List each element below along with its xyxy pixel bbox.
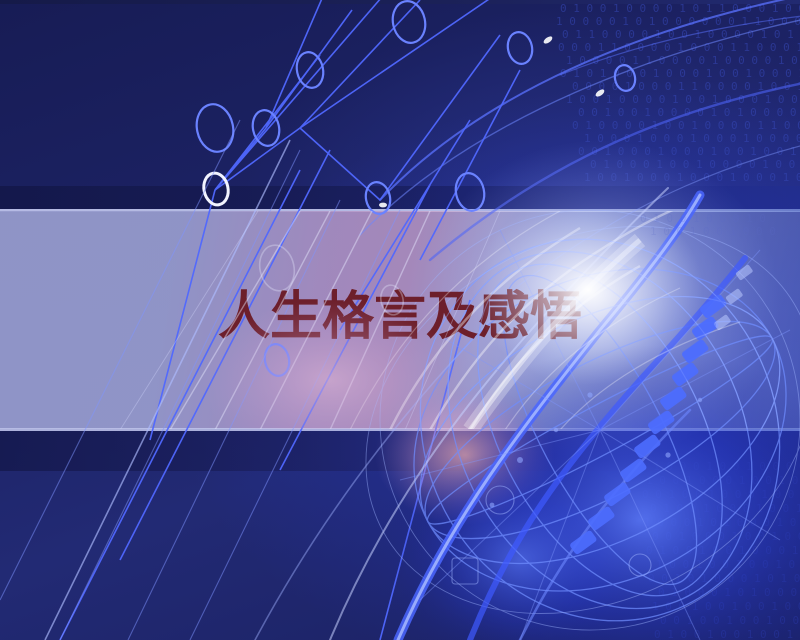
band-pink-tint — [200, 300, 460, 460]
slide-canvas: 0 1 0 0 1 0 0 0 0 1 0 1 1 0 0 0 1 0 0 1 … — [0, 0, 800, 640]
band-overlay-artwork: 0 1 0 0 1 0 0 0 1 0 1 0 0 1 0 0 1 0 0 0 — [0, 0, 800, 640]
svg-text:1 0 0 1 0 0 1 0 0 0: 1 0 0 1 0 0 1 0 0 0 — [650, 225, 776, 238]
svg-text:0 1 0 0 1 0 0 0 1 0: 0 1 0 0 1 0 0 0 1 0 — [640, 212, 766, 225]
